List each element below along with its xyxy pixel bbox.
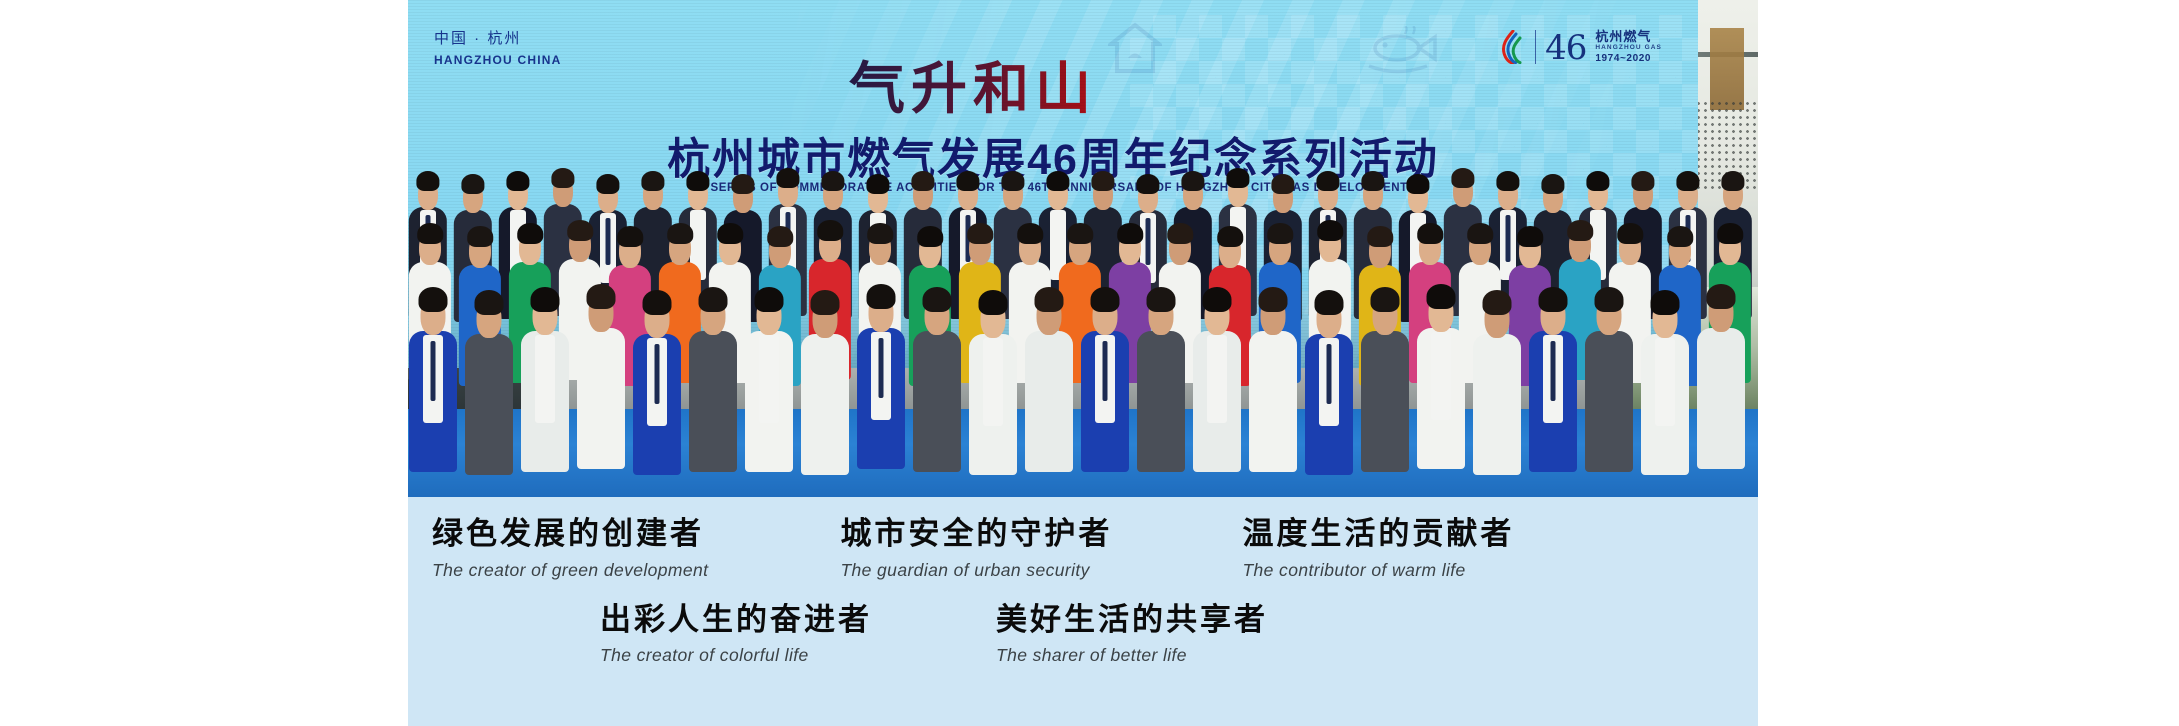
attendee-hair <box>1315 290 1344 315</box>
attendee-hair <box>419 287 448 312</box>
attendee-body <box>1249 331 1297 472</box>
attendee <box>464 293 514 469</box>
attendee-hair <box>551 168 574 188</box>
attendee <box>968 293 1018 469</box>
fish-plate-icon <box>1363 26 1439 78</box>
attendee <box>1136 290 1186 466</box>
banner-location-en: HANGZHOU CHINA <box>434 51 561 69</box>
slogan-text-cn: 美好生活的共享者 <box>996 603 1268 639</box>
attendee-hair <box>1136 174 1159 194</box>
attendee <box>1304 293 1354 469</box>
attendee <box>1696 287 1746 463</box>
attendee-body <box>1025 331 1073 472</box>
attendee-hair <box>1517 226 1543 247</box>
attendee-hair <box>417 223 443 244</box>
slogan-text-cn: 温度生活的贡献者 <box>1242 517 1514 553</box>
attendee-hair <box>686 171 709 191</box>
attendee-body <box>1137 331 1185 472</box>
attendee-hair <box>776 168 799 188</box>
slogan-text-en: The guardian of urban security <box>840 560 1112 581</box>
slogan-item: 温度生活的贡献者The contributor of warm life <box>1226 517 1530 581</box>
logo-divider <box>1535 30 1536 64</box>
attendee-hair <box>1147 287 1176 312</box>
attendee-hair <box>1117 223 1143 244</box>
slogan-text-en: The creator of colorful life <box>600 645 872 666</box>
attendee-hair <box>1001 171 1024 191</box>
attendee-hair <box>1467 223 1493 244</box>
attendee-hair <box>596 174 619 194</box>
attendee-hair <box>531 287 560 312</box>
attendee-body <box>1585 331 1633 472</box>
attendee-hair <box>1541 174 1564 194</box>
slogan-row-2: 出彩人生的奋进者The creator of colorful life美好生活… <box>408 581 1758 667</box>
attendee-body <box>1697 328 1745 469</box>
attendee-hair <box>1167 223 1193 244</box>
attendee-hair <box>587 284 616 309</box>
banner-location: 中国 · 杭州 HANGZHOU CHINA <box>434 28 561 69</box>
attendee-tie <box>655 344 660 404</box>
attendee-body <box>913 331 961 472</box>
venue-door <box>1710 28 1744 110</box>
attendee-hair <box>1496 171 1519 191</box>
slogan-row-1: 绿色发展的创建者The creator of green development… <box>408 497 1758 581</box>
attendee-tie <box>431 341 436 401</box>
logo-wordmark: 杭州燃气 HANGZHOU GAS 1974~2020 <box>1595 29 1662 65</box>
attendee-hair <box>667 223 693 244</box>
attendee-hair <box>1367 226 1393 247</box>
attendee-hair <box>1451 168 1474 188</box>
attendee-hair <box>1271 174 1294 194</box>
attendee-hair <box>1567 220 1593 241</box>
attendee-hair <box>767 226 793 247</box>
attendee-hair <box>917 226 943 247</box>
flame-icon <box>1500 30 1526 64</box>
attendee-hair <box>1091 171 1114 191</box>
attendee-hair <box>867 284 896 309</box>
attendee <box>576 287 626 463</box>
attendee-body <box>577 328 625 469</box>
attendee <box>1584 290 1634 466</box>
attendee-hair <box>1483 290 1512 315</box>
attendee-hair <box>461 174 484 194</box>
attendee-hair <box>1035 287 1064 312</box>
attendee-hair <box>1267 223 1293 244</box>
attendee-hair <box>1046 171 1069 191</box>
attendee-hair <box>475 290 504 315</box>
attendee-hair <box>811 290 840 315</box>
attendee-shirt <box>1207 335 1227 423</box>
attendee-tie <box>1103 341 1108 401</box>
art-title: 气升和山 <box>733 48 1213 120</box>
attendee-hair <box>1017 223 1043 244</box>
slogan-text-cn: 城市安全的守护者 <box>840 517 1112 553</box>
attendee <box>688 290 738 466</box>
attendee-shirt <box>535 335 555 423</box>
attendee <box>1248 290 1298 466</box>
attendee-hair <box>617 226 643 247</box>
attendee <box>1024 290 1074 466</box>
attendee-hair <box>911 171 934 191</box>
logo-company-en: HANGZHOU GAS <box>1595 44 1662 52</box>
attendee <box>1472 293 1522 469</box>
attendee-hair <box>1721 171 1744 191</box>
attendee-hair <box>755 287 784 312</box>
attendee <box>856 287 906 463</box>
attendee <box>408 290 458 466</box>
logo-years: 1974~2020 <box>1595 53 1662 65</box>
attendee-hair <box>731 174 754 194</box>
attendee-hair <box>517 223 543 244</box>
attendee-hair <box>1091 287 1120 312</box>
attendee-hair <box>567 220 593 241</box>
attendee-body <box>465 334 513 475</box>
attendee-hair <box>1707 284 1736 309</box>
attendee <box>1080 290 1130 466</box>
attendee-tie <box>1327 344 1332 404</box>
slogan-item: 美好生活的共享者The sharer of better life <box>980 603 1284 667</box>
anniversary-number: 46 <box>1545 31 1586 65</box>
attendee-hair <box>1259 287 1288 312</box>
slogan-text-en: The sharer of better life <box>996 645 1268 666</box>
attendee-hair <box>1203 287 1232 312</box>
crowd-of-attendees <box>408 168 1758 497</box>
attendee-shirt <box>1655 338 1675 426</box>
slogan-item: 城市安全的守护者The guardian of urban security <box>824 517 1128 581</box>
crowd-row-front <box>408 280 1758 480</box>
attendee-hair <box>956 171 979 191</box>
attendee <box>1416 287 1466 463</box>
attendee-hair <box>1317 220 1343 241</box>
attendee-hair <box>643 290 672 315</box>
banner-location-cn: 中国 · 杭州 <box>434 28 561 51</box>
attendee-hair <box>1631 171 1654 191</box>
attendee-hair <box>866 174 889 194</box>
hangzhou-gas-logo: 46 杭州燃气 HANGZHOU GAS 1974~2020 <box>1500 20 1662 74</box>
attendee <box>744 290 794 466</box>
attendee-hair <box>416 171 439 191</box>
attendee-hair <box>817 220 843 241</box>
page-root: 中国 · 杭州 HANGZHOU CHINA 46 <box>0 0 2179 726</box>
attendee-hair <box>1371 287 1400 312</box>
slogan-panel: 绿色发展的创建者The creator of green development… <box>408 497 1758 726</box>
attendee <box>1640 293 1690 469</box>
attendee-hair <box>1067 223 1093 244</box>
group-photo: 中国 · 杭州 HANGZHOU CHINA 46 <box>408 0 1758 497</box>
attendee-hair <box>699 287 728 312</box>
attendee-hair <box>1316 171 1339 191</box>
attendee-hair <box>1617 223 1643 244</box>
attendee-hair <box>1406 174 1429 194</box>
attendee-hair <box>506 171 529 191</box>
attendee-hair <box>1595 287 1624 312</box>
attendee-hair <box>821 171 844 191</box>
logo-company-cn: 杭州燃气 <box>1595 29 1662 44</box>
attendee-hair <box>1676 171 1699 191</box>
attendee-hair <box>979 290 1008 315</box>
attendee <box>1528 290 1578 466</box>
attendee-tie <box>1551 341 1556 401</box>
content-column: 中国 · 杭州 HANGZHOU CHINA 46 <box>408 0 1758 726</box>
attendee-hair <box>1586 171 1609 191</box>
attendee-hair <box>1427 284 1456 309</box>
slogan-item: 绿色发展的创建者The creator of green development <box>416 517 724 581</box>
attendee-hair <box>467 226 493 247</box>
attendee-hair <box>967 223 993 244</box>
attendee-hair <box>867 223 893 244</box>
slogan-text-en: The contributor of warm life <box>1242 560 1514 581</box>
attendee-shirt <box>983 338 1003 426</box>
attendee-shirt <box>759 335 779 423</box>
attendee <box>632 293 682 469</box>
attendee-hair <box>923 287 952 312</box>
attendee-body <box>1361 331 1409 472</box>
attendee <box>912 290 962 466</box>
attendee-body <box>801 334 849 475</box>
attendee-tie <box>879 338 884 398</box>
attendee-hair <box>1651 290 1680 315</box>
slogan-text-cn: 出彩人生的奋进者 <box>600 603 872 639</box>
slogan-text-cn: 绿色发展的创建者 <box>432 517 708 553</box>
attendee-hair <box>717 223 743 244</box>
attendee-hair <box>1226 168 1249 188</box>
attendee-hair <box>1181 171 1204 191</box>
attendee-hair <box>1667 226 1693 247</box>
attendee-shirt <box>1431 332 1451 420</box>
attendee-hair <box>1417 223 1443 244</box>
attendee <box>1192 290 1242 466</box>
attendee-body <box>1473 334 1521 475</box>
attendee-hair <box>1361 171 1384 191</box>
attendee <box>800 293 850 469</box>
attendee-body <box>689 331 737 472</box>
attendee-hair <box>1539 287 1568 312</box>
attendee-hair <box>1717 223 1743 244</box>
slogan-text-en: The creator of green development <box>432 560 708 581</box>
attendee-hair <box>1217 226 1243 247</box>
attendee <box>520 290 570 466</box>
attendee-hair <box>641 171 664 191</box>
attendee <box>1360 290 1410 466</box>
slogan-item: 出彩人生的奋进者The creator of colorful life <box>584 603 888 667</box>
